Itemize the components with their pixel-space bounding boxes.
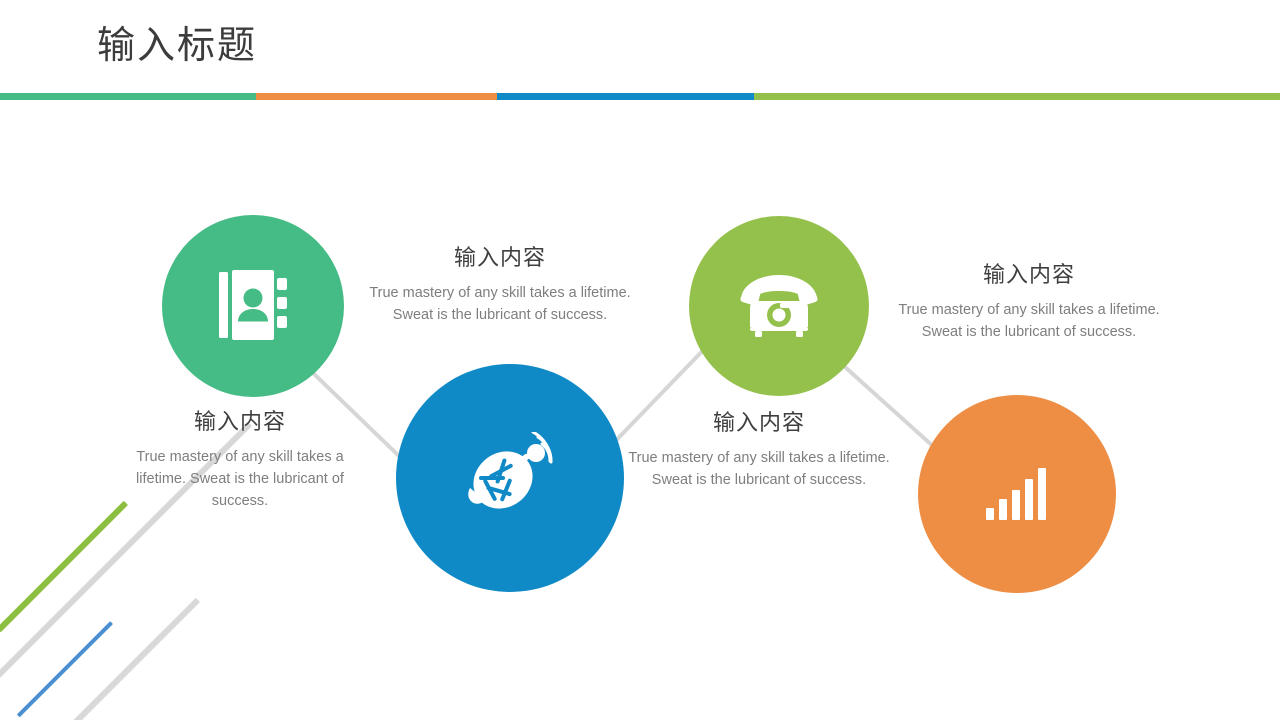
text-block-body: True mastery of any skill takes a lifeti…	[368, 282, 632, 326]
deco-gray-short-line	[72, 598, 200, 720]
text-block-body: True mastery of any skill takes a lifeti…	[898, 299, 1160, 343]
rule-bar-segment-green	[754, 93, 1280, 100]
text-block-body: True mastery of any skill takes a lifeti…	[110, 446, 370, 512]
rule-bar-segment-blue	[497, 93, 754, 100]
rule-bar-segment-teal	[0, 93, 256, 100]
signal-bars-icon	[986, 468, 1048, 520]
node-circle-contacts[interactable]	[162, 215, 344, 397]
satellite-dish-icon	[462, 432, 558, 524]
text-block-body: True mastery of any skill takes a lifeti…	[628, 447, 890, 491]
telephone-icon	[739, 275, 819, 337]
address-book-icon	[219, 270, 287, 342]
text-block-telephone: 输入内容 True mastery of any skill takes a l…	[628, 409, 890, 491]
text-block-heading: 输入内容	[368, 244, 632, 272]
slide-canvas: 输入标题	[0, 0, 1280, 720]
node-circle-satellite[interactable]	[396, 364, 624, 592]
node-circle-signal[interactable]	[918, 395, 1116, 593]
text-block-signal: 输入内容 True mastery of any skill takes a l…	[898, 261, 1160, 343]
text-block-heading: 输入内容	[628, 409, 890, 437]
node-circle-telephone[interactable]	[689, 216, 869, 396]
text-block-heading: 输入内容	[110, 408, 370, 436]
text-block-heading: 输入内容	[898, 261, 1160, 289]
text-block-contacts: 输入内容 True mastery of any skill takes a l…	[110, 408, 370, 512]
rule-bar-segment-orange	[256, 93, 497, 100]
page-title: 输入标题	[97, 26, 257, 68]
text-block-satellite: 输入内容 True mastery of any skill takes a l…	[368, 244, 632, 326]
